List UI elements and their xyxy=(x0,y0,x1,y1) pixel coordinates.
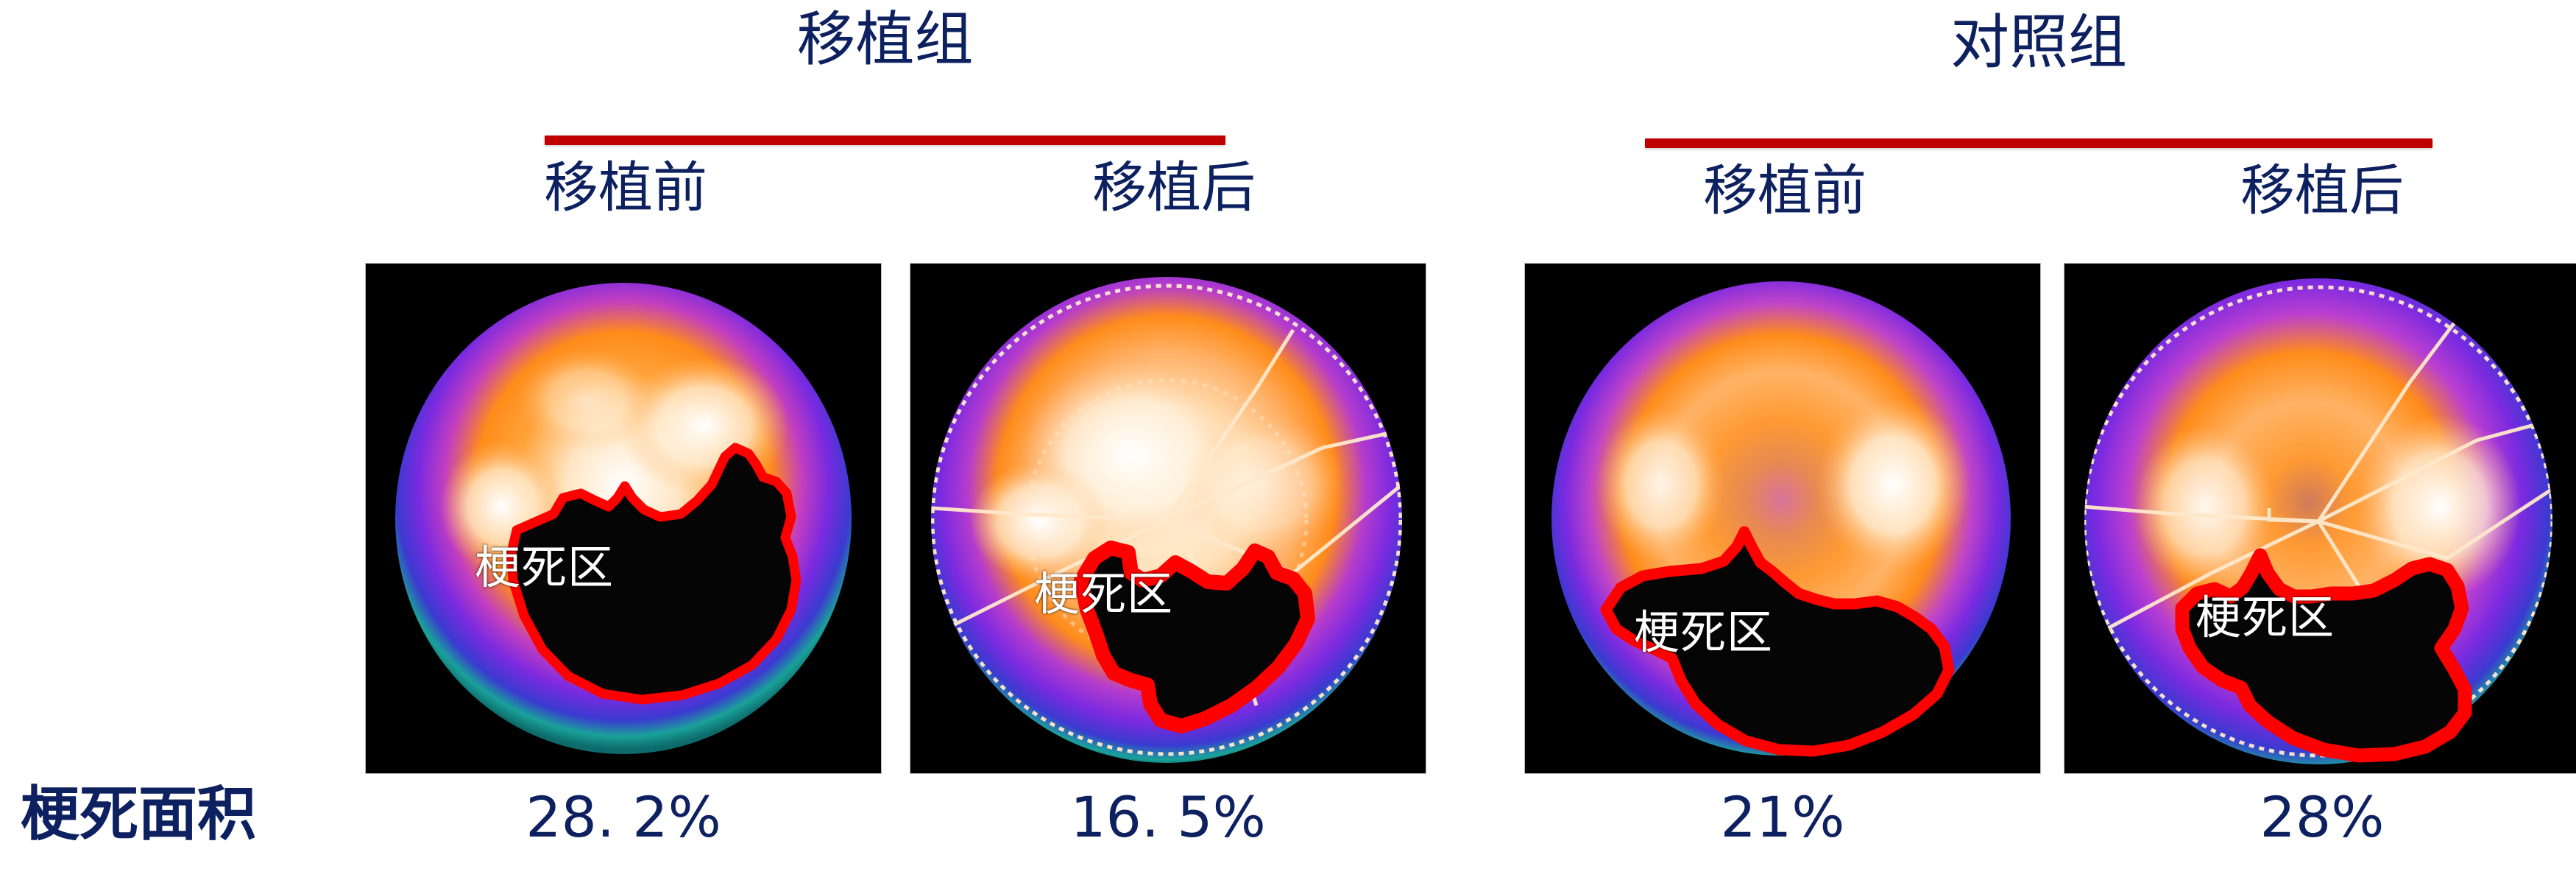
polarmap-control-post-canvas xyxy=(2064,264,2576,773)
infarct-zone-label: 梗死区 xyxy=(1034,571,1173,617)
figure-root: 移植组 对照组 移植前 移植后 移植前 移植后 xyxy=(0,0,2576,880)
polarmap-transplant-pre-canvas xyxy=(366,264,881,773)
panel-label-control-post: 移植后 xyxy=(2138,163,2506,218)
panel-label-control-pre: 移植前 xyxy=(1601,163,1969,218)
polarmap-transplant-post[interactable]: 梗死区 xyxy=(910,264,1426,773)
group-title-transplant: 移植组 xyxy=(545,10,1225,69)
polarmap-control-post[interactable]: 梗死区 xyxy=(2064,264,2576,773)
group-title-control: 对照组 xyxy=(1645,13,2432,72)
infarct-zone-label: 梗死区 xyxy=(475,545,614,591)
panel-label-transplant-pre: 移植前 xyxy=(442,161,810,215)
polarmap-control-pre-canvas xyxy=(1525,264,2040,773)
infarct-zone-label: 梗死区 xyxy=(1634,610,1773,655)
infarct-percent-transplant-post: 16. 5% xyxy=(984,789,1352,845)
infarct-percent-transplant-pre: 28. 2% xyxy=(439,789,807,845)
polarmap-transplant-post-canvas xyxy=(910,264,1426,773)
infarct-percent-control-pre: 21% xyxy=(1599,789,1967,845)
infarct-zone-label: 梗死区 xyxy=(2195,595,2335,641)
polarmap-transplant-pre[interactable]: 梗死区 xyxy=(366,264,881,773)
row-label-infarct-area: 梗死面积 xyxy=(21,785,256,844)
group-underline-control xyxy=(1645,138,2432,148)
polarmap-control-pre[interactable]: 梗死区 xyxy=(1525,264,2040,773)
panel-label-transplant-post: 移植后 xyxy=(990,161,1358,215)
infarct-percent-control-post: 28% xyxy=(2138,789,2506,845)
group-underline-transplant xyxy=(545,135,1225,145)
